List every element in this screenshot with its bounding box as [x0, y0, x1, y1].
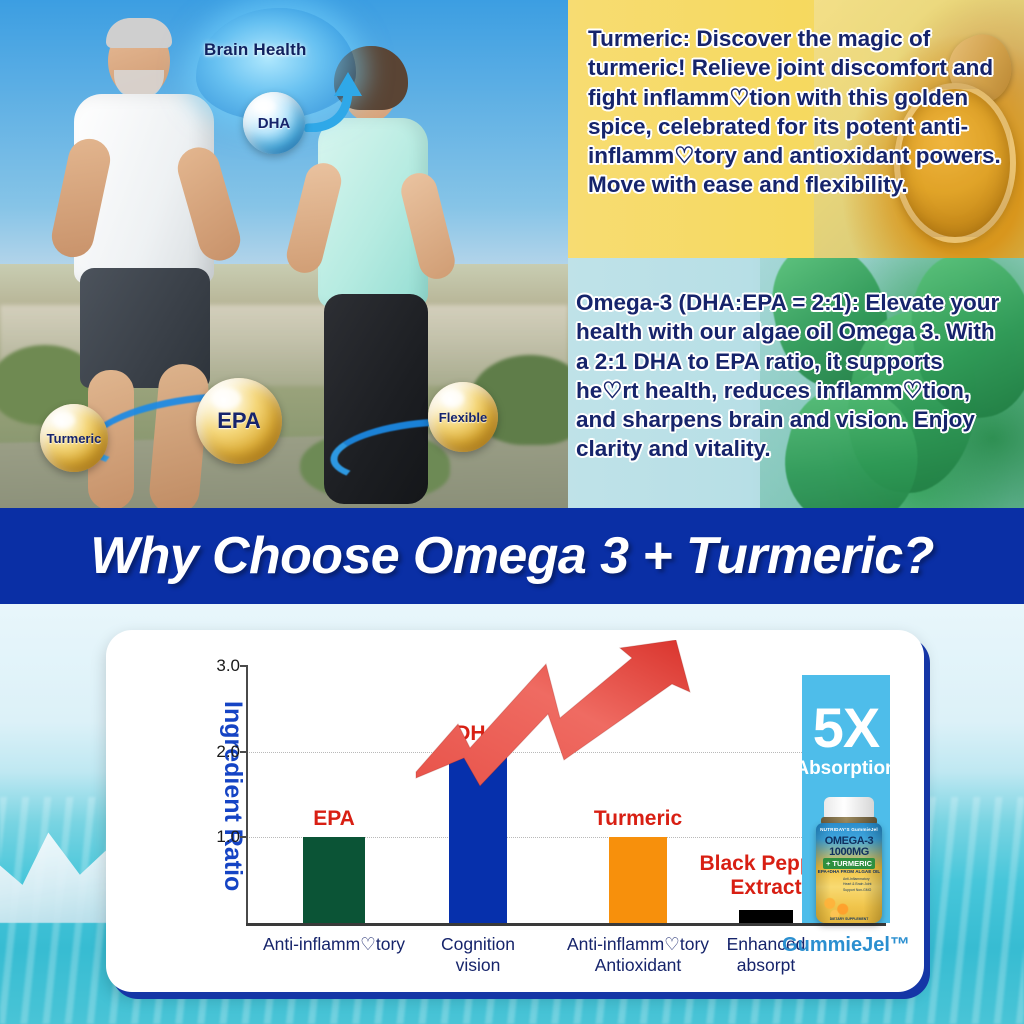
x-label-line: Cognition — [441, 934, 515, 955]
brain-health-label: Brain Health — [204, 40, 307, 60]
bottle-plus-turmeric: + TURMERIC — [823, 858, 875, 869]
bar-label-line: DHA — [455, 722, 501, 746]
y-tick-label-2.0: 2.0 — [200, 742, 240, 762]
bubble-epa: EPA — [196, 378, 282, 464]
bottle-footer: DIETARY SUPPLEMENT — [816, 917, 882, 921]
turmeric-description: Turmeric: Discover the magic of turmeric… — [568, 0, 1024, 200]
bar-label-turmeric: Turmeric — [594, 807, 682, 831]
y-tick-mark — [240, 836, 248, 838]
y-tick-label-3.0: 3.0 — [200, 656, 240, 676]
chart-section: Ingredient Ratio 1.02.03.0EPAAnti-inflam… — [0, 604, 1024, 1024]
bottle-bullets: Anti-Inflammatory Heart & Brain Joint Su… — [843, 877, 877, 893]
omega3-description: Omega-3 (DHA:EPA = 2:1): Elevate your he… — [568, 258, 1024, 464]
x-label-line: vision — [441, 955, 515, 976]
bar-label-line: Turmeric — [594, 807, 682, 831]
y-tick-mark — [240, 665, 248, 667]
absorption-multiplier-value: 5X — [813, 701, 880, 754]
chart-card: Ingredient Ratio 1.02.03.0EPAAnti-inflam… — [106, 630, 924, 992]
y-tick-label-1.0: 1.0 — [200, 827, 240, 847]
bubble-dha-label: DHA — [258, 115, 291, 132]
x-label-line: absorpt — [727, 955, 806, 976]
product-bottle: NUTRIDAY’S GummieJelOMEGA-31000MG+ TURME… — [812, 797, 886, 923]
x-label-line: Anti-inflamm♡tory — [263, 934, 405, 955]
bottle-dose: 1000MG — [816, 846, 882, 858]
bottle-source: EPA+DHA FROM ALGAE OIL — [816, 869, 882, 874]
y-axis-title-text: Ingredient Ratio — [218, 701, 247, 891]
product-infographic: Brain Health DHA Turmeric EPA Flexible — [0, 0, 1024, 1024]
x-axis-label-4: GummieJel™ — [782, 934, 910, 958]
bubble-turmeric-label: Turmeric — [47, 431, 102, 446]
bubble-turmeric: Turmeric — [40, 404, 108, 472]
y-axis — [246, 666, 248, 926]
bottle-label: NUTRIDAY’S GummieJelOMEGA-31000MG+ TURME… — [816, 823, 882, 923]
bubble-flexible: Flexible — [428, 382, 498, 452]
x-label-line: GummieJel™ — [782, 934, 910, 958]
bubble-dha: DHA — [243, 92, 305, 154]
x-axis-label-2: Anti-inflamm♡toryAntioxidant — [567, 934, 709, 975]
bar-dha — [449, 752, 507, 923]
headline-banner: Why Choose Omega 3 + Turmeric? — [0, 508, 1024, 604]
bottle-cap — [824, 797, 874, 819]
bar-label-dha: DHA — [455, 722, 501, 746]
bar-turmeric — [609, 837, 667, 923]
plot-area: 1.02.03.0EPAAnti-inflamm♡toryDHACognitio… — [246, 666, 886, 926]
x-label-line: Antioxidant — [567, 955, 709, 976]
lifestyle-photo: Brain Health DHA Turmeric EPA Flexible — [0, 0, 568, 508]
gummies-illustration — [819, 893, 855, 919]
absorption-caption: Absorption — [795, 758, 896, 780]
turmeric-info-panel: Turmeric: Discover the magic of turmeric… — [568, 0, 1024, 258]
hero-section: Brain Health DHA Turmeric EPA Flexible — [0, 0, 1024, 508]
bar-epa — [303, 837, 365, 923]
omega3-info-panel: Omega-3 (DHA:EPA = 2:1): Elevate your he… — [568, 258, 1024, 508]
y-tick-mark — [240, 751, 248, 753]
bar-black-pepper-extract — [739, 910, 793, 923]
headline-title: Why Choose Omega 3 + Turmeric? — [90, 526, 934, 586]
y-axis-title: Ingredient Ratio — [218, 666, 247, 926]
x-axis-label-0: Anti-inflamm♡tory — [263, 934, 405, 955]
x-axis — [246, 923, 886, 926]
bottle-brand: NUTRIDAY’S GummieJel — [816, 827, 882, 832]
bar-label-line: EPA — [313, 807, 355, 831]
bubble-epa-label: EPA — [217, 408, 261, 434]
bubble-flexible-label: Flexible — [439, 410, 487, 425]
x-axis-label-1: Cognitionvision — [441, 934, 515, 975]
bar-label-epa: EPA — [313, 807, 355, 831]
male-hair — [106, 18, 172, 48]
gridline-2.0 — [246, 752, 886, 753]
x-label-line: Anti-inflamm♡tory — [567, 934, 709, 955]
